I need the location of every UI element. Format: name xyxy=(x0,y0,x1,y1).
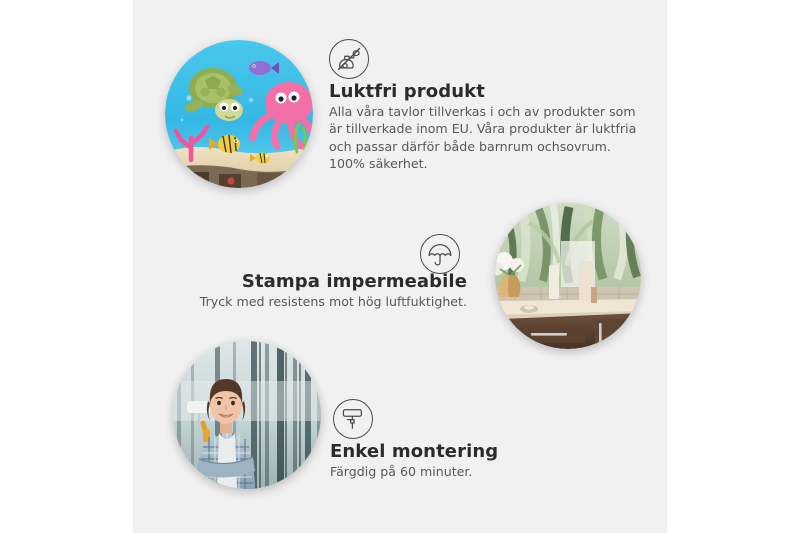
feature-text-odour-free: Luktfri produkt Alla våra tavlor tillver… xyxy=(329,80,639,172)
feature-title: Stampa impermeabile xyxy=(193,270,467,293)
feature-description: Färgdig på 60 minuter. xyxy=(330,463,630,480)
feature-text-easy-assembly: Enkel montering Färgdig på 60 minuter. xyxy=(330,440,630,480)
feature-description: Tryck med resistens mot hög luftfuktighe… xyxy=(193,293,467,310)
feature-description: Alla våra tavlor tillverkas i och av pro… xyxy=(329,103,639,172)
woman-forest-wallpaper-photo xyxy=(173,341,321,489)
infographic-canvas: Luktfri produkt Alla våra tavlor tillver… xyxy=(0,0,800,533)
feature-text-waterproof-print: Stampa impermeabile Tryck med resistens … xyxy=(193,270,467,310)
bathroom-botanical-photo xyxy=(495,203,641,349)
umbrella-icon xyxy=(420,234,460,274)
underwater-cartoon-photo xyxy=(165,40,313,188)
feature-title: Enkel montering xyxy=(330,440,630,463)
paint-roller-icon xyxy=(333,399,373,439)
feature-title: Luktfri produkt xyxy=(329,80,639,103)
no-spray-bottle-icon xyxy=(329,39,369,79)
infographic-panel: Luktfri produkt Alla våra tavlor tillver… xyxy=(133,0,667,533)
